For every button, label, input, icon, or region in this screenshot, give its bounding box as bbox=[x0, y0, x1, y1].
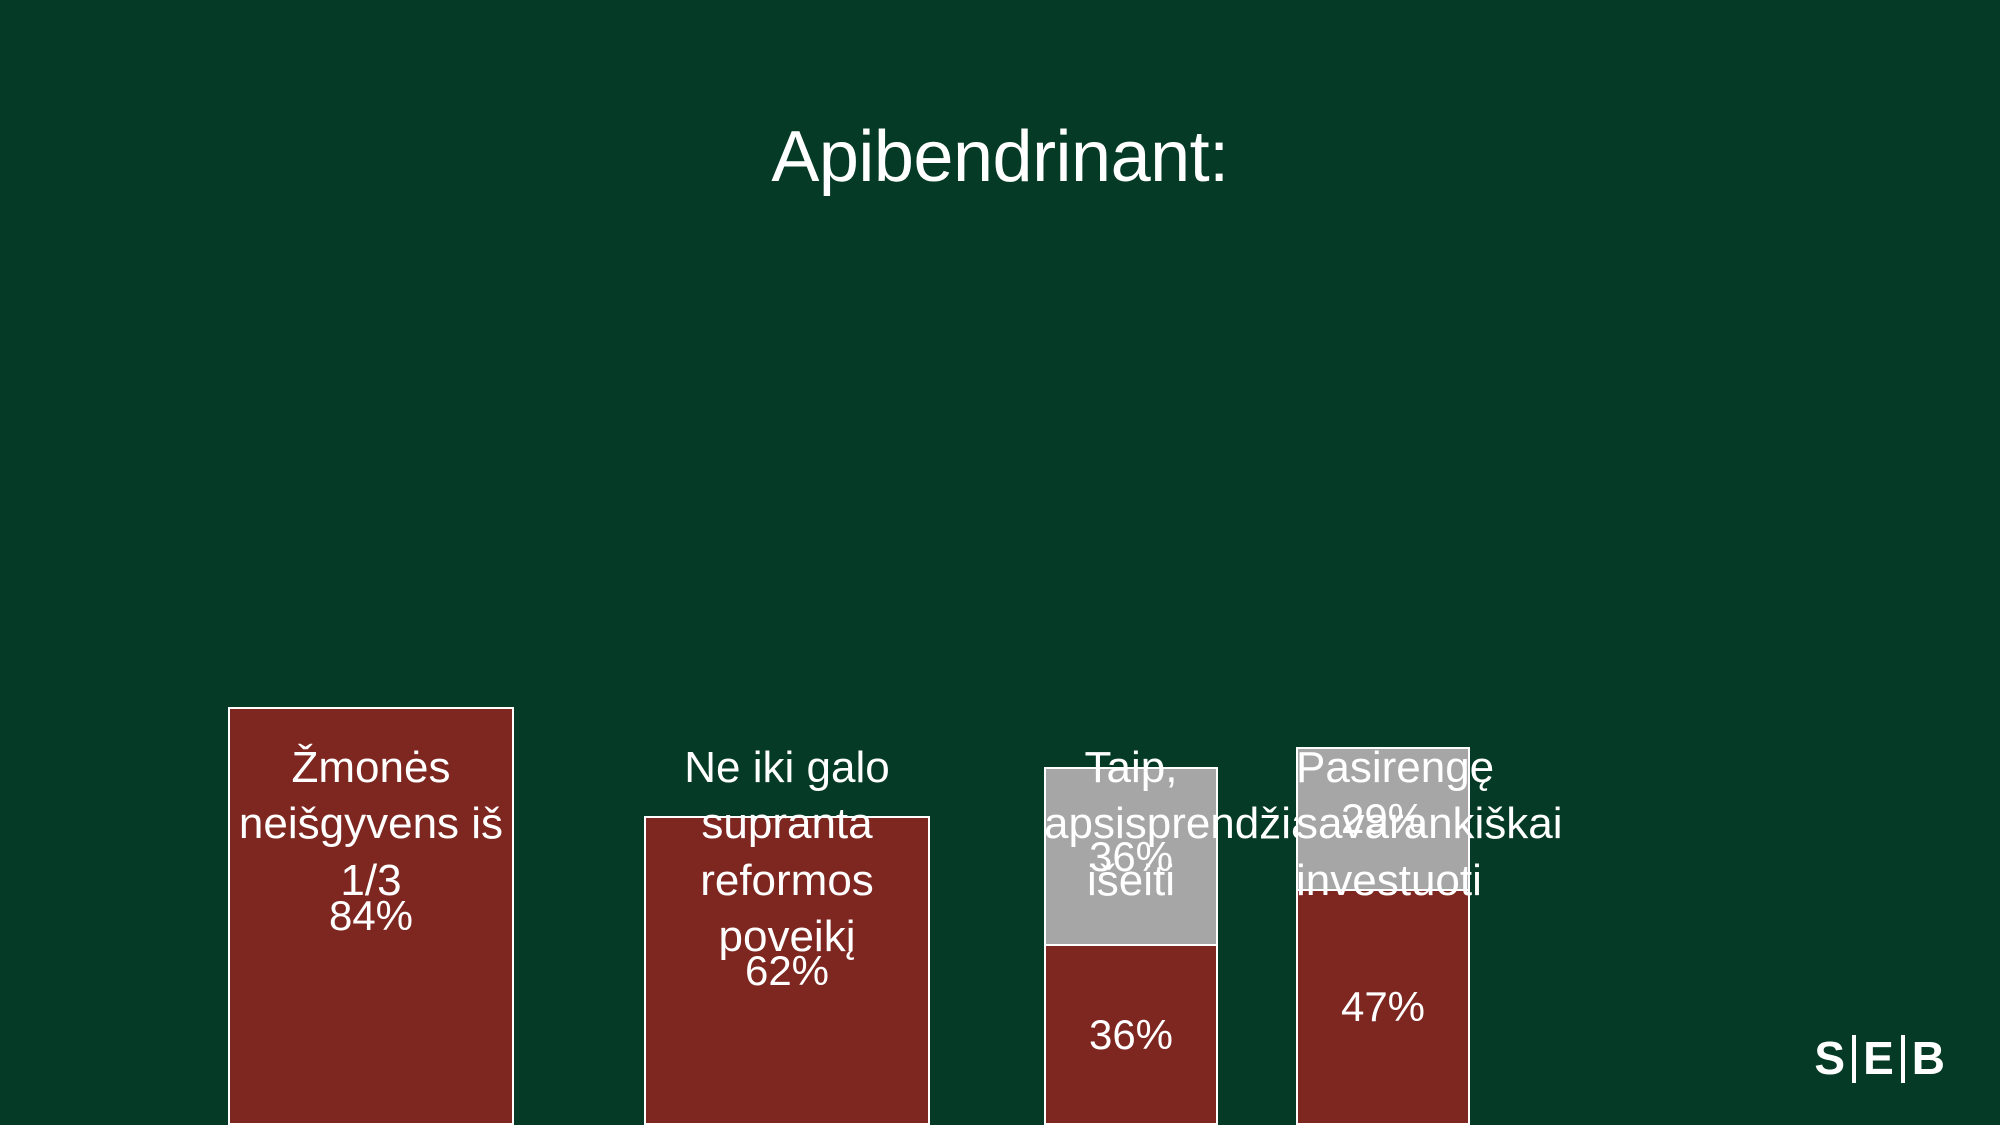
seb-logo-letter-e: E bbox=[1856, 1035, 1901, 1083]
bar-value-label: 47% bbox=[1341, 986, 1425, 1028]
bar-segment-red[interactable]: 36% bbox=[1044, 946, 1218, 1125]
category-label: Pasirengę savarankiškai investuoti bbox=[1296, 740, 1470, 909]
seb-logo-letter-b: B bbox=[1905, 1035, 1952, 1083]
seb-logo-letter-s: S bbox=[1807, 1035, 1852, 1083]
bar-segment-red[interactable]: 47% bbox=[1296, 891, 1470, 1125]
bar-value-label: 36% bbox=[1089, 1014, 1173, 1056]
bar-chart: 84%Žmonės neišgyvens iš 1/362%Ne iki gal… bbox=[0, 0, 2000, 1125]
category-label: Žmonės neišgyvens iš 1/3 bbox=[228, 740, 514, 909]
seb-logo: S E B bbox=[1807, 1035, 1952, 1083]
slide-root: Apibendrinant: 84%Žmonės neišgyvens iš 1… bbox=[0, 0, 2000, 1125]
category-label: Ne iki galo supranta reformos poveikį bbox=[644, 740, 930, 965]
category-label: Taip, apsisprendžiau išeiti bbox=[1044, 740, 1218, 909]
